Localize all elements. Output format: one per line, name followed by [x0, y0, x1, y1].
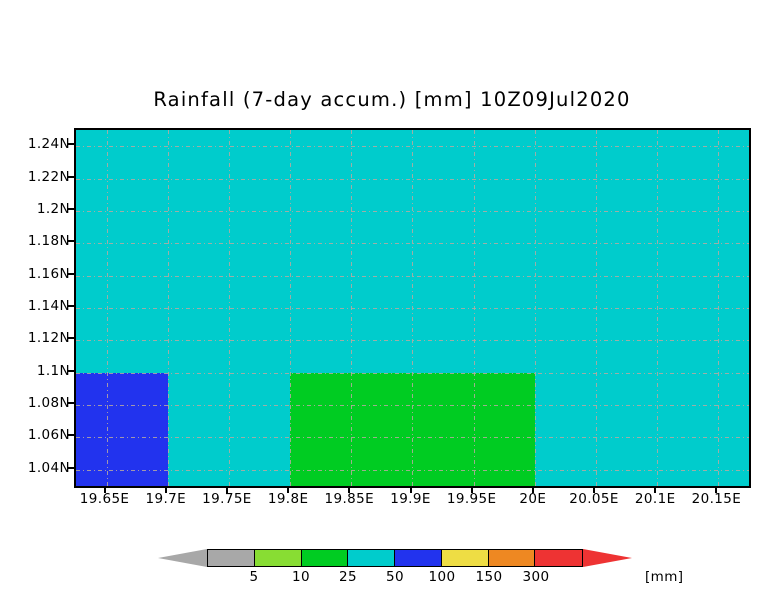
blue-region	[76, 373, 168, 486]
colorbar-right-arrow-icon	[583, 549, 632, 567]
map-canvas	[76, 130, 749, 486]
y-axis-tick-label: 1.08N	[28, 395, 70, 411]
y-axis-tick-label: 1.16N	[28, 266, 70, 282]
colorbar-segment-6	[489, 550, 536, 566]
rainfall-map-figure: Rainfall (7-day accum.) [mm] 10Z09Jul202…	[0, 0, 784, 612]
gridline-horizontal	[76, 179, 749, 180]
x-axis-tick-label: 20.15E	[671, 491, 761, 507]
colorbar-segment-5	[442, 550, 489, 566]
y-axis-tick-label: 1.2N	[37, 201, 70, 217]
gridline-horizontal	[76, 308, 749, 309]
gridline-horizontal	[76, 437, 749, 438]
y-axis-tick-label: 1.04N	[28, 460, 70, 476]
page-title: Rainfall (7-day accum.) [mm] 10Z09Jul202…	[0, 88, 784, 111]
gridline-horizontal	[76, 243, 749, 244]
gridline-horizontal	[76, 373, 749, 374]
colorbar-unit-label: [mm]	[645, 569, 683, 585]
colorbar-segment-1	[255, 550, 302, 566]
y-axis-tick-label: 1.18N	[28, 233, 70, 249]
gridline-horizontal	[76, 405, 749, 406]
gridline-horizontal	[76, 470, 749, 471]
colorbar-segment-3	[348, 550, 395, 566]
y-axis-tick-label: 1.14N	[28, 298, 70, 314]
gridline-horizontal	[76, 146, 749, 147]
colorbar-legend: [mm] 5102550100150300	[0, 541, 784, 601]
y-axis-tick-label: 1.06N	[28, 427, 70, 443]
y-axis-tick-label: 1.1N	[37, 363, 70, 379]
y-axis-tick-label: 1.22N	[28, 169, 70, 185]
colorbar-tick-label: 300	[506, 569, 566, 585]
gridline-horizontal	[76, 340, 749, 341]
colorbar-segment-2	[302, 550, 349, 566]
colorbar-gradient	[207, 549, 583, 567]
y-axis-tick-label: 1.24N	[28, 136, 70, 152]
map-plot-area	[74, 128, 751, 488]
colorbar-left-arrow-icon	[158, 549, 207, 567]
y-axis-tick-label: 1.12N	[28, 330, 70, 346]
colorbar-segment-4	[395, 550, 442, 566]
gridline-horizontal	[76, 276, 749, 277]
colorbar-segment-7	[535, 550, 582, 566]
gridline-horizontal	[76, 211, 749, 212]
colorbar-segment-0	[208, 550, 255, 566]
